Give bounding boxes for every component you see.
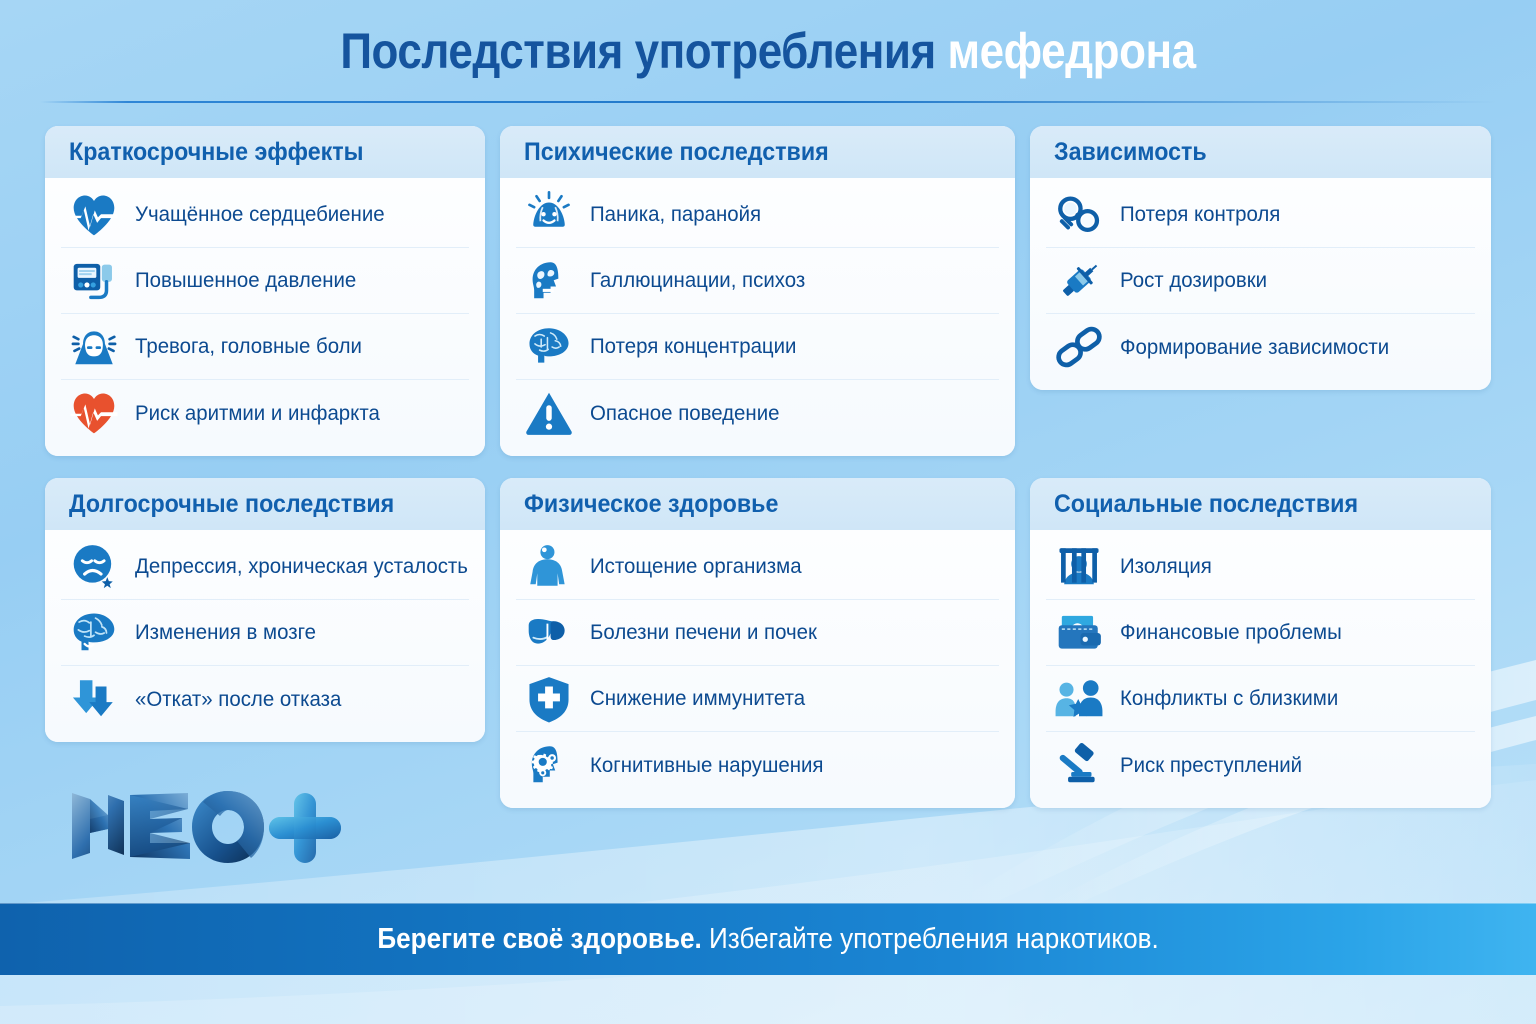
footer-normal-text: Избегайте употребления наркотиков. — [702, 923, 1159, 955]
card-body: Изоляция Финансовые проблемы — [1030, 530, 1491, 808]
brain-change-icon — [67, 606, 121, 660]
list-item[interactable]: Истощение организма — [516, 534, 999, 600]
list-item-label: Изменения в мозге — [135, 620, 316, 645]
list-item[interactable]: «Откат» после отказа — [61, 666, 469, 732]
list-item-label: Изоляция — [1120, 554, 1212, 579]
card-social-consequences: Социальные последствия — [1030, 478, 1491, 808]
thin-person-icon — [522, 540, 576, 594]
cards-grid: Краткосрочные эффекты Учащённое сердцеби… — [45, 126, 1491, 808]
list-item-label: Финансовые проблемы — [1120, 620, 1342, 645]
card-header: Долгосрочные последствия — [45, 478, 485, 530]
card-body: Депрессия, хроническая усталость Изменен… — [45, 530, 485, 742]
handcuffs-icon — [1052, 188, 1106, 242]
list-item-label: Учащённое сердцебиение — [135, 202, 385, 227]
list-item-label: Рост дозировки — [1120, 268, 1267, 293]
footer-bold-text: Берегите своё здоровье. — [377, 923, 701, 955]
card-heading: Социальные последствия — [1054, 490, 1438, 519]
card-long-term-consequences: Долгосрочные последствия Депрессия, хрон… — [45, 478, 485, 742]
down-arrows-icon — [67, 672, 121, 726]
blood-pressure-monitor-icon — [67, 254, 121, 308]
card-body: Потеря контроля Рост д — [1030, 178, 1491, 390]
title-part-two: мефедрона — [948, 23, 1196, 79]
two-people-conflict-icon — [1052, 672, 1106, 726]
list-item-label: Когнитивные нарушения — [590, 753, 823, 778]
list-item[interactable]: Паника, паранойя — [516, 182, 999, 248]
panic-face-icon — [522, 188, 576, 242]
list-item[interactable]: Опасное поведение — [516, 380, 999, 446]
list-item[interactable]: Рост дозировки — [1046, 248, 1475, 314]
list-item-label: Риск аритмии и инфаркта — [135, 401, 380, 426]
heart-pulse-red-icon — [67, 386, 121, 440]
liver-kidney-icon — [522, 606, 576, 660]
list-item[interactable]: Тревога, головные боли — [61, 314, 469, 380]
card-body: Учащённое сердцебиение Повышенное давлен… — [45, 178, 485, 456]
list-item[interactable]: Конфликты с близкими — [1046, 666, 1475, 732]
card-heading: Зависимость — [1054, 138, 1438, 167]
card-header: Социальные последствия — [1030, 478, 1491, 530]
warning-triangle-icon — [522, 386, 576, 440]
list-item-label: Истощение организма — [590, 554, 802, 579]
card-body: Паника, паранойя Галлюцинации, психоз — [500, 178, 1015, 456]
list-item[interactable]: Риск аритмии и инфаркта — [61, 380, 469, 446]
card-heading: Краткосрочные эффекты — [69, 138, 434, 167]
card-heading: Физическое здоровье — [524, 490, 958, 519]
card-heading: Долгосрочные последствия — [69, 490, 434, 519]
wallet-icon — [1052, 606, 1106, 660]
brain-icon — [522, 320, 576, 374]
list-item[interactable]: Когнитивные нарушения — [516, 732, 999, 798]
list-item[interactable]: Болезни печени и почек — [516, 600, 999, 666]
card-header: Зависимость — [1030, 126, 1491, 178]
list-item-label: Депрессия, хроническая усталость — [135, 554, 468, 579]
list-item[interactable]: Риск преступлений — [1046, 732, 1475, 798]
syringe-icon — [1052, 254, 1106, 308]
list-item[interactable]: Формирование зависимости — [1046, 314, 1475, 380]
headache-person-icon — [67, 320, 121, 374]
card-physical-health: Физическое здоровье Истощение организма — [500, 478, 1015, 808]
list-item-label: Конфликты с близкими — [1120, 686, 1338, 711]
card-short-term-effects: Краткосрочные эффекты Учащённое сердцеби… — [45, 126, 485, 456]
list-item[interactable]: Депрессия, хроническая усталость — [61, 534, 469, 600]
list-item[interactable]: Финансовые проблемы — [1046, 600, 1475, 666]
neo-plus-logo — [66, 785, 346, 865]
list-item-label: Опасное поведение — [590, 401, 779, 426]
list-item-label: Болезни печени и почек — [590, 620, 817, 645]
head-hallucination-icon — [522, 254, 576, 308]
card-mental-consequences: Психические последствия Паника, паранойя — [500, 126, 1015, 456]
title-part-one: Последствия употребления — [340, 23, 935, 79]
card-header: Физическое здоровье — [500, 478, 1015, 530]
card-body: Истощение организма Болезни печени и поч… — [500, 530, 1015, 808]
list-item[interactable]: Повышенное давление — [61, 248, 469, 314]
gavel-icon — [1052, 738, 1106, 792]
chain-link-icon — [1052, 320, 1106, 374]
list-item-label: Повышенное давление — [135, 268, 356, 293]
list-item-label: Риск преступлений — [1120, 753, 1302, 778]
list-item[interactable]: Галлюцинации, психоз — [516, 248, 999, 314]
sad-face-icon — [67, 540, 121, 594]
list-item[interactable]: Изменения в мозге — [61, 600, 469, 666]
card-header: Психические последствия — [500, 126, 1015, 178]
list-item-label: Галлюцинации, психоз — [590, 268, 805, 293]
list-item[interactable]: Потеря контроля — [1046, 182, 1475, 248]
list-item-label: Формирование зависимости — [1120, 335, 1389, 360]
card-dependency: Зависимость Потеря контроля — [1030, 126, 1491, 390]
prison-bars-person-icon — [1052, 540, 1106, 594]
card-heading: Психические последствия — [524, 138, 958, 167]
head-gears-icon — [522, 738, 576, 792]
list-item-label: Потеря контроля — [1120, 202, 1280, 227]
list-item-label: «Откат» после отказа — [135, 687, 341, 712]
list-item[interactable]: Изоляция — [1046, 534, 1475, 600]
list-item-label: Паника, паранойя — [590, 202, 761, 227]
list-item[interactable]: Потеря концентрации — [516, 314, 999, 380]
title-divider — [40, 101, 1496, 103]
list-item[interactable]: Снижение иммунитета — [516, 666, 999, 732]
list-item-label: Снижение иммунитета — [590, 686, 805, 711]
card-header: Краткосрочные эффекты — [45, 126, 485, 178]
heart-pulse-icon — [67, 188, 121, 242]
list-item-label: Потеря концентрации — [590, 334, 796, 359]
shield-cross-icon — [522, 672, 576, 726]
footer-banner: Берегите своё здоровье. Избегайте употре… — [0, 903, 1536, 975]
list-item[interactable]: Учащённое сердцебиение — [61, 182, 469, 248]
page-title: Последствия употребления мефедрона — [0, 22, 1536, 80]
list-item-label: Тревога, головные боли — [135, 334, 362, 359]
